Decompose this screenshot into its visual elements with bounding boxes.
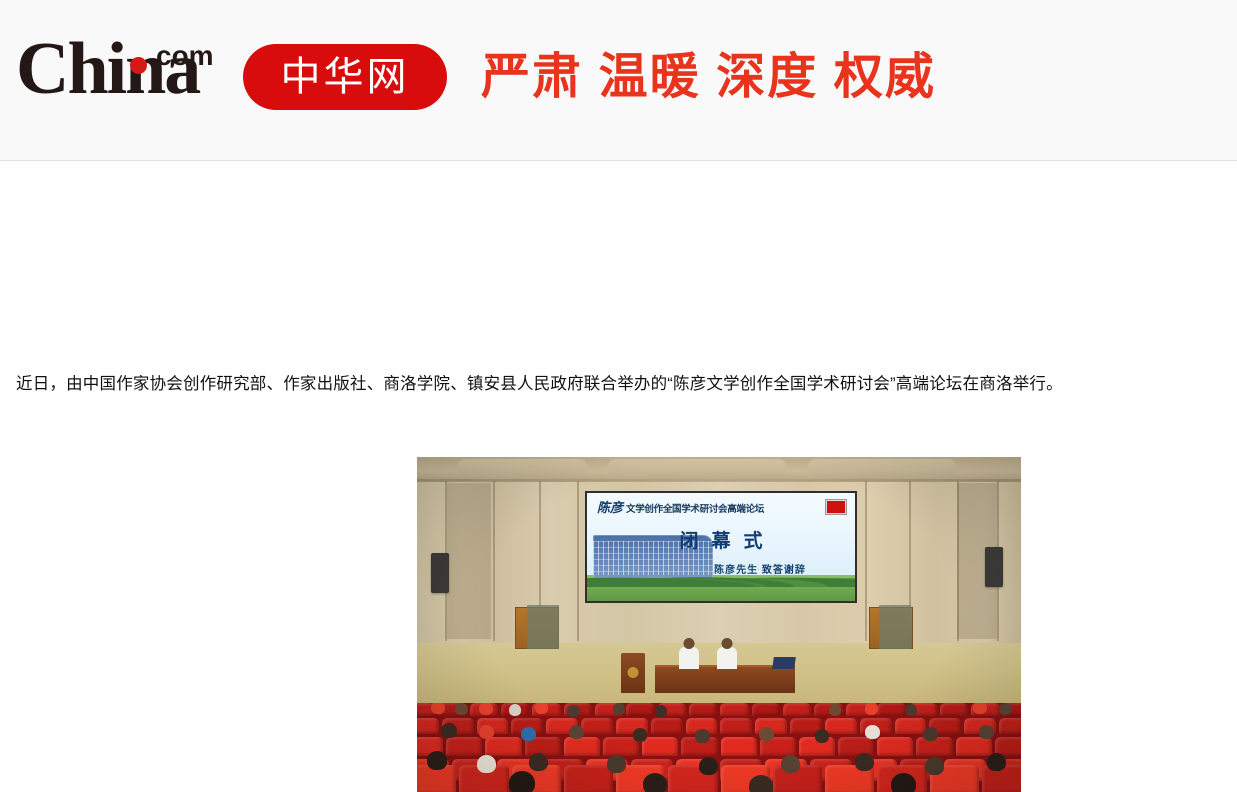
audience-head xyxy=(441,723,457,738)
emblem-inner xyxy=(827,501,845,513)
stage-laptop xyxy=(772,657,796,669)
article-lead-paragraph: 近日，由中国作家协会创作研究部、作家出版社、商洛学院、镇安县人民政府联合举办的“… xyxy=(16,370,1221,398)
seat xyxy=(581,718,613,734)
screen-subtitle: 文学创作全国学术研讨会高端论坛 xyxy=(626,504,764,515)
projection-screen: 陈彦 文学创作全国学术研讨会高端论坛 闭幕式 陈彦先生 致答谢辞 xyxy=(585,491,857,603)
seat xyxy=(783,703,811,716)
wall-seam xyxy=(493,481,495,641)
seat xyxy=(642,737,678,756)
ceiling-duct-left xyxy=(457,459,587,477)
site-header: China com 中华网 严肃 温暖 深度 权威 xyxy=(0,0,1237,161)
audience-head xyxy=(655,705,667,717)
seat xyxy=(626,703,654,716)
seat xyxy=(720,703,748,716)
audience-head xyxy=(477,755,496,773)
seat xyxy=(446,737,482,756)
wall-speaker-right xyxy=(985,547,1003,587)
wall-speaker-left xyxy=(431,553,449,593)
audience-head xyxy=(987,753,1006,771)
audience-head xyxy=(891,773,916,792)
auditorium-photo: 陈彦 文学创作全国学术研讨会高端论坛 闭幕式 陈彦先生 致答谢辞 xyxy=(417,457,1021,792)
audience-head xyxy=(865,725,880,739)
audience-head xyxy=(759,727,774,741)
audience-head xyxy=(979,725,994,739)
seat xyxy=(564,765,613,792)
audience-head xyxy=(643,773,667,792)
seat xyxy=(895,718,927,734)
ceiling-duct-right xyxy=(807,459,957,477)
seat xyxy=(825,718,857,734)
audience-head xyxy=(535,703,548,714)
seat xyxy=(651,718,683,734)
audience-head xyxy=(455,703,468,715)
seat xyxy=(720,718,752,734)
seat xyxy=(689,703,717,716)
wall-seam xyxy=(865,481,867,641)
seat xyxy=(940,703,968,716)
audience-head xyxy=(569,725,584,739)
seat xyxy=(417,718,439,734)
audience-head xyxy=(749,775,773,792)
audience-head xyxy=(695,729,710,743)
screen-header-line: 陈彦 文学创作全国学术研讨会高端论坛 xyxy=(597,501,817,515)
seat xyxy=(999,718,1021,734)
audience-head xyxy=(815,729,829,743)
brand-tld-label: com xyxy=(156,42,214,70)
screen-main-title: 闭幕式 xyxy=(587,531,855,553)
brand-pill-label: 中华网 xyxy=(281,55,410,99)
seat-row xyxy=(417,703,1021,716)
audience-head xyxy=(923,727,938,741)
audience-head xyxy=(829,704,841,716)
ceiling-duct-mid xyxy=(607,459,787,477)
brand-pill-badge[interactable]: 中华网 xyxy=(243,44,447,110)
national-emblem-icon xyxy=(825,499,847,515)
seat xyxy=(564,737,600,756)
audience-head xyxy=(613,703,625,715)
audience-head xyxy=(973,703,987,714)
header-inner: China com 中华网 严肃 温暖 深度 权威 xyxy=(0,0,1237,160)
audience-head xyxy=(855,753,874,771)
stage-panel-right xyxy=(879,605,911,649)
stage-podium xyxy=(621,653,645,693)
seat xyxy=(752,703,780,716)
audience-head xyxy=(567,705,580,717)
stage-panel-left xyxy=(527,605,559,649)
audience-head xyxy=(865,703,878,715)
wall-seam xyxy=(577,481,579,641)
ceiling-rail xyxy=(417,479,1021,482)
audience-head xyxy=(509,771,535,792)
seat xyxy=(956,737,992,756)
audience-head xyxy=(607,755,626,773)
red-dot-icon xyxy=(130,57,147,74)
audience-head xyxy=(509,704,521,716)
audience-head xyxy=(431,703,445,714)
audience-head xyxy=(521,727,536,741)
audience-head xyxy=(699,757,718,775)
audience-head xyxy=(781,755,800,773)
seat xyxy=(877,737,913,756)
audience-head xyxy=(529,753,548,771)
seat xyxy=(485,737,521,756)
audience-head xyxy=(905,704,917,716)
audience-head xyxy=(999,703,1012,715)
screen-brand-name: 陈彦 xyxy=(597,501,623,514)
seat xyxy=(877,703,905,716)
stage-table xyxy=(655,665,795,693)
audience-seating xyxy=(417,703,1021,792)
audience-head xyxy=(479,725,494,739)
wall-panel xyxy=(447,483,491,639)
site-logo-link[interactable]: China com xyxy=(16,22,246,117)
stage-speaker-left xyxy=(679,647,699,669)
audience-head xyxy=(479,703,493,715)
stage-speaker-right xyxy=(717,647,737,669)
seat xyxy=(721,737,757,756)
site-slogan: 严肃 温暖 深度 权威 xyxy=(481,48,936,106)
screen-speaker-note: 陈彦先生 致答谢辞 xyxy=(587,565,843,577)
audience-head xyxy=(633,728,647,742)
audience-head xyxy=(925,757,944,775)
audience-head xyxy=(427,751,447,770)
article-photo-figure: 陈彦 文学创作全国学术研讨会高端论坛 闭幕式 陈彦先生 致答谢辞 xyxy=(417,457,1021,792)
